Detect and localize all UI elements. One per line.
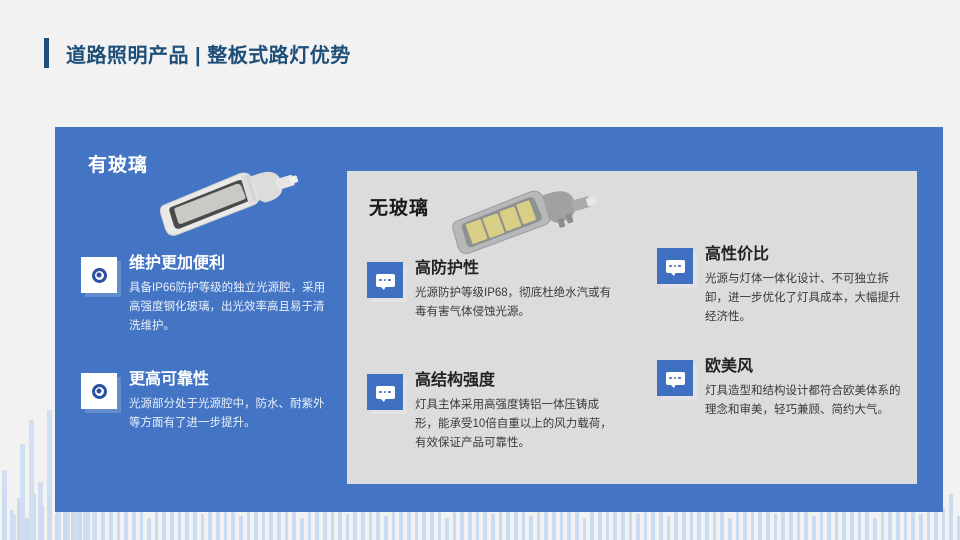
- decorative-bar: [705, 512, 709, 540]
- icon-box: [367, 374, 403, 410]
- feature-body: 具备IP66防护等级的独立光源腔，采用高强度钢化玻璃，出光效率高且易于清洗维护。: [129, 279, 329, 336]
- decorative-bar: [812, 516, 816, 540]
- feature-body: 光源部分处于光源腔中，防水、耐紫外等方面有了进一步提升。: [129, 395, 329, 433]
- feature-title: 高防护性: [415, 259, 615, 279]
- decorative-bar: [774, 514, 778, 540]
- decorative-bar: [659, 508, 663, 540]
- decorative-bar: [147, 518, 151, 540]
- decorative-bar: [2, 494, 6, 540]
- decorative-bar: [896, 510, 900, 540]
- feature-body: 灯具主体采用高强度铸铝一体压铸成形，能承受10倍自重以上的风力载荷，有效保证产品…: [415, 396, 615, 453]
- icon-box: [81, 257, 117, 293]
- decorative-bar: [422, 512, 426, 540]
- decorative-bar: [55, 514, 59, 540]
- decorative-bar: [728, 518, 732, 540]
- page-title: 道路照明产品 | 整板式路灯优势: [66, 39, 351, 68]
- feature-item: 维护更加便利 具备IP66防护等级的独立光源腔，采用高强度钢化玻璃，出光效率高且…: [81, 254, 329, 336]
- without-glass-heading: 无玻璃: [369, 193, 429, 220]
- decorative-bar: [529, 516, 533, 540]
- decorative-bar: [33, 494, 37, 540]
- feature-body: 光源与灯体一体化设计、不可独立拆卸，进一步优化了灯具成本，大幅提升经济性。: [705, 270, 905, 327]
- decorative-bar: [384, 516, 388, 540]
- with-glass-column: 有玻璃 维护更加便利 具备IP66防护等级的独立光源腔，采用高强度钢化玻璃，出光…: [55, 127, 345, 512]
- feature-body: 光源防护等级IP68，彻底杜绝水汽或有毒有害气体侵蚀光源。: [415, 284, 615, 322]
- decorative-bar: [10, 510, 14, 540]
- decorative-bar: [25, 518, 29, 540]
- bubble-glyph: [376, 274, 395, 287]
- speech-bubble-icon: [657, 248, 693, 284]
- feature-text: 高结构强度 灯具主体采用高强度铸铝一体压铸成形，能承受10倍自重以上的风力载荷，…: [415, 371, 615, 453]
- decorative-bar: [48, 494, 52, 540]
- main-panel: 有玻璃 维护更加便利 具备IP66防护等级的独立光源腔，采用高强度钢化玻璃，出光…: [55, 127, 943, 512]
- feature-text: 高防护性 光源防护等级IP68，彻底杜绝水汽或有毒有害气体侵蚀光源。: [415, 259, 615, 322]
- decorative-bar: [514, 508, 518, 540]
- feature-title: 高性价比: [705, 245, 905, 265]
- decorative-bar: [949, 494, 953, 540]
- feature-text: 高性价比 光源与灯体一体化设计、不可独立拆卸，进一步优化了灯具成本，大幅提升经济…: [705, 245, 905, 327]
- feature-text: 欧美风 灯具造型和结构设计都符合欧美体系的理念和审美，轻巧兼顾、简约大气。: [705, 357, 905, 420]
- feature-item: 高性价比 光源与灯体一体化设计、不可独立拆卸，进一步优化了灯具成本，大幅提升经济…: [657, 245, 905, 327]
- decorative-bar: [201, 514, 205, 540]
- icon-box: [657, 360, 693, 396]
- decorative-bar: [300, 518, 304, 540]
- decorative-bar: [842, 512, 846, 540]
- decorative-bar: [491, 514, 495, 540]
- speech-bubble-icon: [367, 374, 403, 410]
- decorative-bar: [797, 508, 801, 540]
- ring-icon: [81, 257, 117, 293]
- feature-title: 更高可靠性: [129, 370, 329, 390]
- slide-header: 道路照明产品 | 整板式路灯优势: [44, 34, 351, 72]
- decorative-bar: [919, 514, 923, 540]
- bubble-glyph: [666, 372, 685, 385]
- decorative-bar: [636, 514, 640, 540]
- feature-item: 欧美风 灯具造型和结构设计都符合欧美体系的理念和审美，轻巧兼顾、简约大气。: [657, 357, 905, 420]
- decorative-bar: [78, 508, 82, 540]
- decorative-bar: [560, 512, 564, 540]
- decorative-bar: [606, 510, 610, 540]
- feature-title: 欧美风: [705, 357, 905, 377]
- ring-glyph: [92, 268, 107, 283]
- street-lamp-without-glass-image: [445, 177, 600, 255]
- decorative-bar: [751, 510, 755, 540]
- decorative-bar: [667, 516, 671, 540]
- icon-box: [367, 262, 403, 298]
- feature-title: 高结构强度: [415, 371, 615, 391]
- with-glass-heading: 有玻璃: [88, 150, 148, 177]
- decorative-bar: [178, 510, 182, 540]
- feature-title: 维护更加便利: [129, 254, 329, 274]
- bubble-glyph: [666, 260, 685, 273]
- decorative-bar: [468, 510, 472, 540]
- decorative-bar: [942, 508, 946, 540]
- feature-body: 灯具造型和结构设计都符合欧美体系的理念和审美，轻巧兼顾、简约大气。: [705, 382, 905, 420]
- street-lamp-with-glass-image: [150, 157, 300, 239]
- without-glass-card: 无玻璃 高防护性 光源防护等级: [347, 171, 917, 484]
- icon-box: [81, 373, 117, 409]
- decorative-bar: [369, 508, 373, 540]
- decorative-bar: [94, 516, 98, 540]
- speech-bubble-icon: [657, 360, 693, 396]
- decorative-bar: [323, 510, 327, 540]
- decorative-bar: [17, 498, 21, 540]
- feature-item: 更高可靠性 光源部分处于光源腔中，防水、耐紫外等方面有了进一步提升。: [81, 370, 329, 433]
- title-accent-bar: [44, 38, 49, 68]
- feature-item: 高防护性 光源防护等级IP68，彻底杜绝水汽或有毒有害气体侵蚀光源。: [367, 259, 615, 322]
- decorative-bar: [583, 518, 587, 540]
- decorative-bar: [873, 518, 877, 540]
- icon-box: [657, 248, 693, 284]
- decorative-bar: [269, 512, 273, 540]
- feature-text: 更高可靠性 光源部分处于光源腔中，防水、耐紫外等方面有了进一步提升。: [129, 370, 329, 433]
- ring-icon: [81, 373, 117, 409]
- decorative-bar: [239, 516, 243, 540]
- bubble-glyph: [376, 386, 395, 399]
- speech-bubble-icon: [367, 262, 403, 298]
- decorative-bar: [445, 518, 449, 540]
- decorative-bar: [346, 514, 350, 540]
- ring-glyph: [92, 384, 107, 399]
- decorative-bar: [124, 512, 128, 540]
- feature-item: 高结构强度 灯具主体采用高强度铸铝一体压铸成形，能承受10倍自重以上的风力载荷，…: [367, 371, 615, 453]
- decorative-bar: [40, 506, 44, 540]
- feature-text: 维护更加便利 具备IP66防护等级的独立光源腔，采用高强度钢化玻璃，出光效率高且…: [129, 254, 329, 336]
- decorative-bar: [224, 508, 228, 540]
